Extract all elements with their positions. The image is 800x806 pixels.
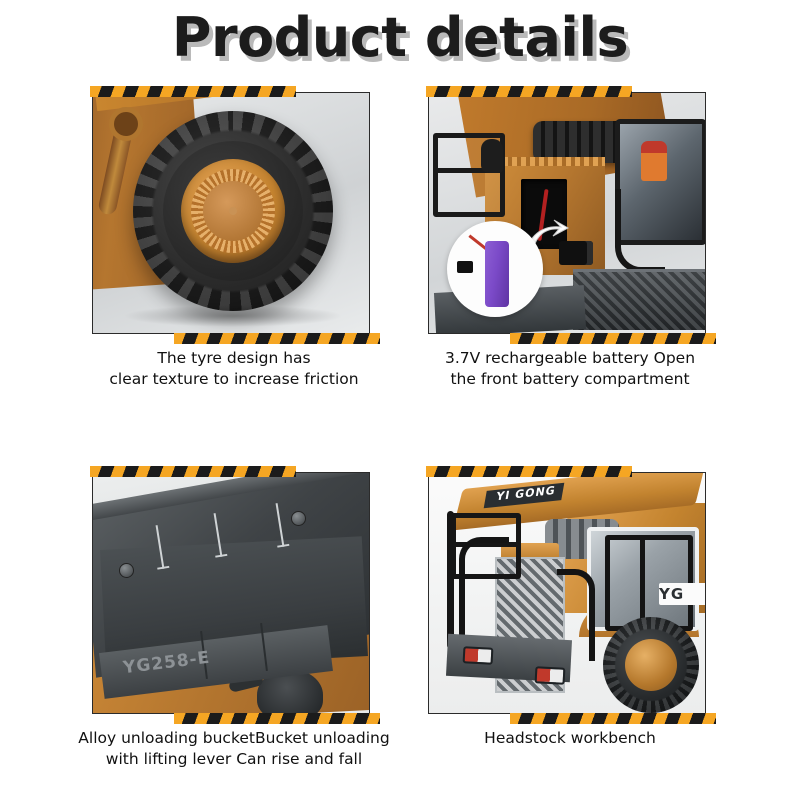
bucket-bolt: [291, 511, 306, 526]
side-handrail: [615, 189, 665, 273]
wheel-rim: [625, 639, 677, 691]
product-photo-bucket: YG258-E: [92, 472, 370, 714]
detail-panel-bucket: YG258-E Alloy unloading bucketBucket unl…: [88, 466, 380, 806]
detail-panel-battery: 3.7V rechargeable battery Open the front…: [424, 86, 716, 426]
hazard-stripe-top-icon: [90, 86, 296, 97]
front-lamp: [463, 646, 494, 665]
panel-caption-battery: 3.7V rechargeable battery Open the front…: [398, 348, 742, 391]
product-photo-headstock: YI GONG YG: [428, 472, 706, 714]
product-detail-grid: The tyre design has clear texture to inc…: [0, 84, 800, 800]
caption-line-2: clear texture to increase friction: [62, 369, 406, 390]
battery-callout-plug: [457, 261, 473, 273]
operator-figure: [641, 141, 667, 181]
battery-callout-circle: [447, 221, 543, 317]
caption-line-1: Alloy unloading bucketBucket unloading: [78, 728, 390, 749]
panel-caption-headstock: Headstock workbench: [398, 728, 742, 749]
ladder-post: [447, 511, 454, 649]
cab-side-label: YG: [659, 585, 703, 603]
detail-panel-headstock: YI GONG YG Headstock workbench: [424, 466, 716, 806]
tyre: [133, 111, 333, 311]
detail-panel-tyre: The tyre design has clear texture to inc…: [88, 86, 380, 426]
piston-joint: [109, 107, 143, 141]
panel-caption-bucket: Alloy unloading bucketBucket unloading w…: [78, 728, 390, 771]
hazard-stripe-top-icon: [90, 466, 296, 477]
caption-line-1: The tyre design has: [62, 348, 406, 369]
front-wheel: [603, 617, 699, 713]
hazard-stripe-top-icon: [426, 466, 632, 477]
hazard-stripe-top-icon: [426, 86, 632, 97]
product-photo-tyre: [92, 92, 370, 334]
hazard-stripe-bottom-icon: [510, 333, 716, 344]
page-title: Product details: [0, 6, 800, 69]
hazard-stripe-bottom-icon: [510, 713, 716, 724]
hazard-stripe-bottom-icon: [174, 333, 380, 344]
side-mirror: [481, 139, 503, 173]
product-photo-battery: [428, 92, 706, 334]
caption-line-2: with lifting lever Can rise and fall: [78, 749, 390, 770]
panel-caption-tyre: The tyre design has clear texture to inc…: [62, 348, 406, 391]
front-lamp: [535, 666, 566, 685]
battery-cell: [485, 241, 509, 307]
photo-shadow: [123, 305, 343, 327]
bucket-bolt: [119, 563, 134, 578]
rear-grille: [573, 269, 706, 330]
caption-line-2: the front battery compartment: [398, 369, 742, 390]
caption-line-1: 3.7V rechargeable battery Open: [398, 348, 742, 369]
caption-line-1: Headstock workbench: [398, 728, 742, 749]
hazard-stripe-bottom-icon: [174, 713, 380, 724]
wheel-hub-center: [229, 207, 237, 215]
